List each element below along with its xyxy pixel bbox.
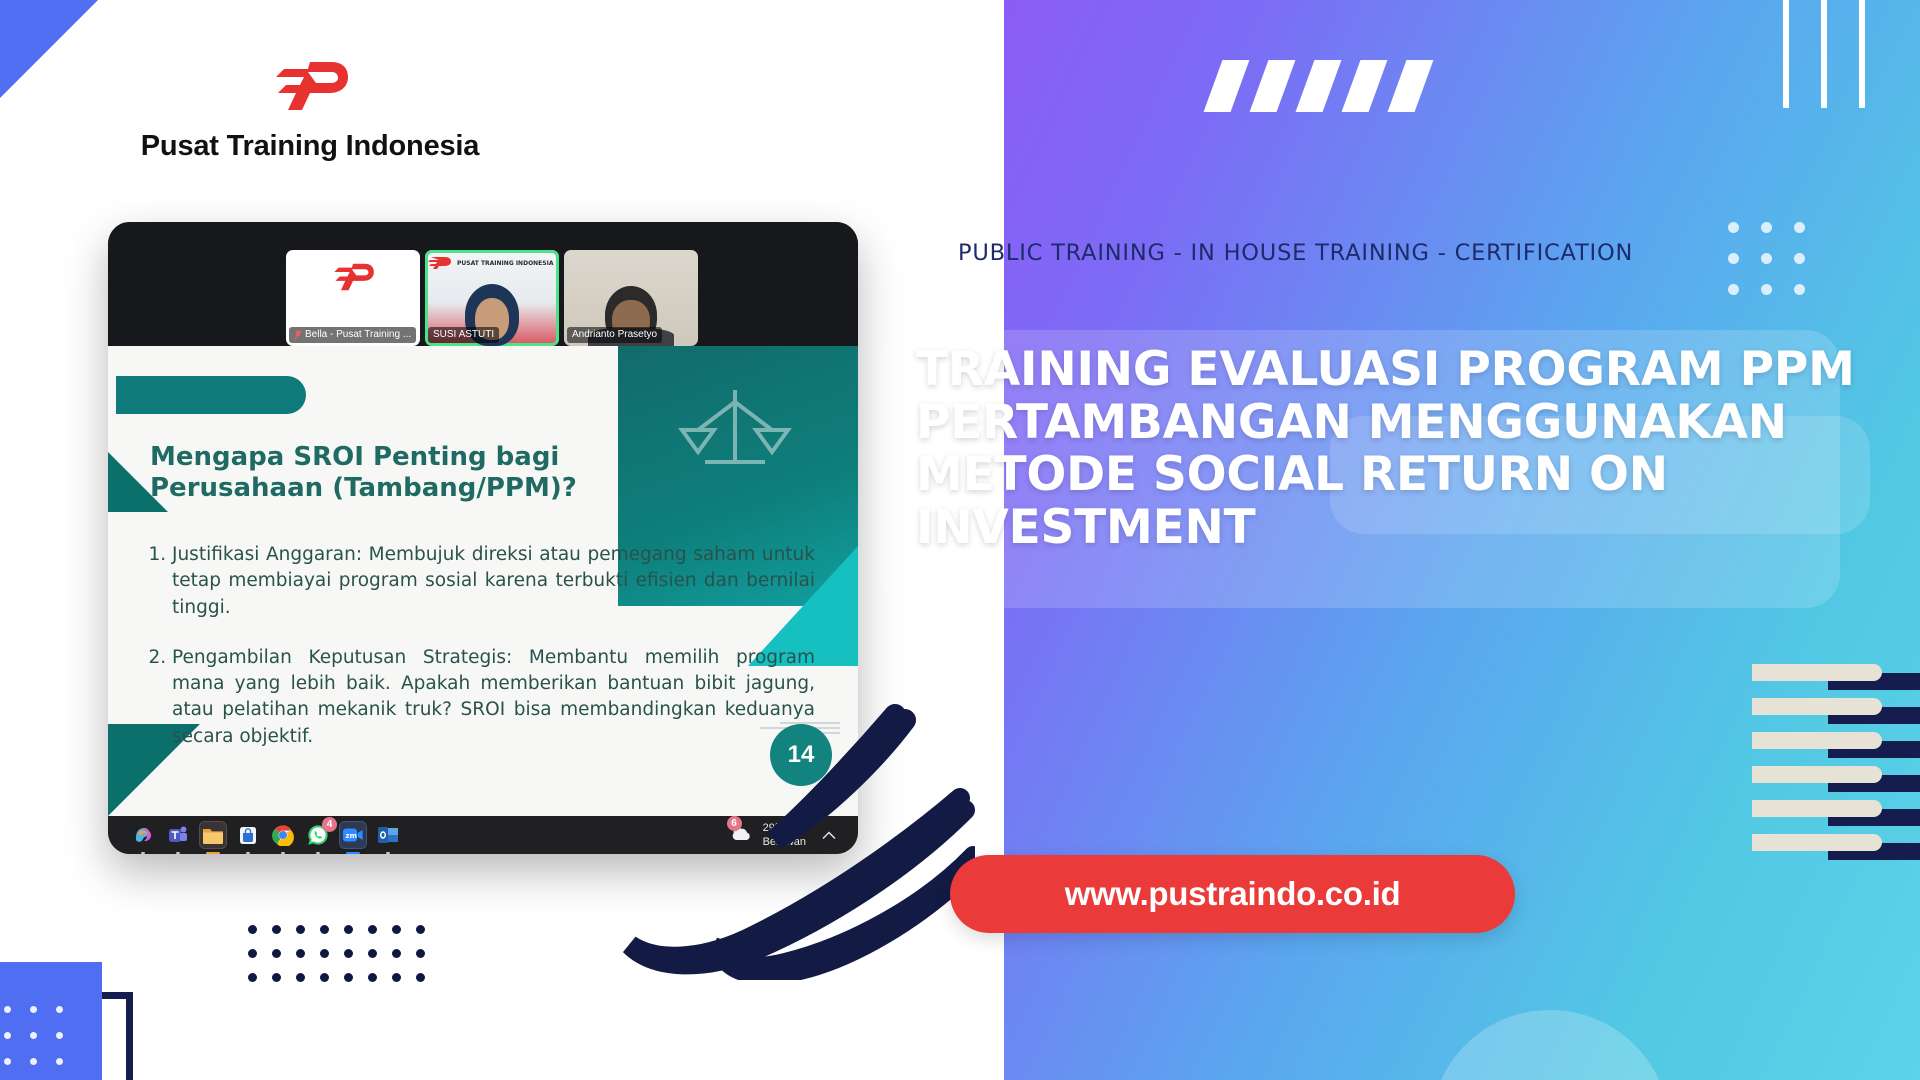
website-cta-button[interactable]: www.pustraindo.co.id	[950, 855, 1515, 933]
promo-kicker: PUBLIC TRAINING - IN HOUSE TRAINING - CE…	[958, 240, 1718, 266]
whatsapp-icon[interactable]: 4	[305, 822, 331, 848]
blue-square-decoration	[0, 962, 102, 1080]
svg-text:zm: zm	[346, 832, 357, 840]
file-explorer-icon[interactable]	[200, 822, 226, 848]
participant-name-label: SUSI ASTUTI	[428, 327, 499, 343]
zoom-icon[interactable]: zm	[340, 822, 366, 848]
whatsapp-badge: 4	[322, 817, 337, 832]
vertical-lines-decoration	[1783, 0, 1903, 115]
slide-heading: Mengapa SROI Penting bagi Perusahaan (Ta…	[150, 442, 680, 503]
mic-muted-icon	[294, 330, 302, 340]
microsoft-teams-icon[interactable]	[165, 822, 191, 848]
google-chrome-icon[interactable]	[270, 822, 296, 848]
participant-tile-2[interactable]: PUSAT TRAINING INDONESIA SUSI ASTUTI	[425, 250, 559, 346]
zoom-participant-strip: Bella - Pusat Training ... PUSAT TRAININ…	[108, 222, 858, 346]
pusat-training-banner-icon: PUSAT TRAINING INDONESIA	[425, 254, 559, 270]
diagonal-stripes-decoration	[1213, 60, 1443, 112]
pusat-training-p-logo-icon	[270, 60, 350, 112]
brand-block: Pusat Training Indonesia	[100, 60, 520, 163]
dot-grid-decoration-left	[248, 925, 428, 987]
slide-teal-bar-decoration	[116, 376, 306, 414]
participant-name-label: Andrianto Prasetyo	[567, 327, 662, 343]
participant-tile-3[interactable]: Andrianto Prasetyo	[564, 250, 698, 346]
participant-tile-1[interactable]: Bella - Pusat Training ...	[286, 250, 420, 346]
svg-text:PUSAT TRAINING INDONESIA: PUSAT TRAINING INDONESIA	[457, 260, 554, 267]
website-cta-label: www.pustraindo.co.id	[1065, 875, 1401, 913]
brand-name: Pusat Training Indonesia	[100, 130, 520, 163]
pusat-training-p-logo-icon	[331, 262, 375, 292]
participant-name-label: Bella - Pusat Training ...	[289, 327, 416, 343]
squiggle-decoration	[575, 690, 975, 980]
outlook-icon[interactable]	[375, 822, 401, 848]
copilot-icon[interactable]	[130, 822, 156, 848]
poster-canvas: Pusat Training Indonesia Bella - Pusat T	[0, 0, 1920, 1080]
slide-point: Justifikasi Anggaran: Membujuk direksi a…	[172, 542, 815, 621]
promo-title: TRAINING EVALUASI PROGRAM PPM PERTAMBANG…	[916, 344, 1896, 555]
balance-scale-icon	[670, 382, 800, 478]
dot-grid-decoration-right	[1728, 222, 1814, 300]
stacked-bars-decoration	[1752, 662, 1920, 872]
corner-triangle-decoration	[0, 0, 98, 98]
microsoft-store-icon[interactable]	[235, 822, 261, 848]
